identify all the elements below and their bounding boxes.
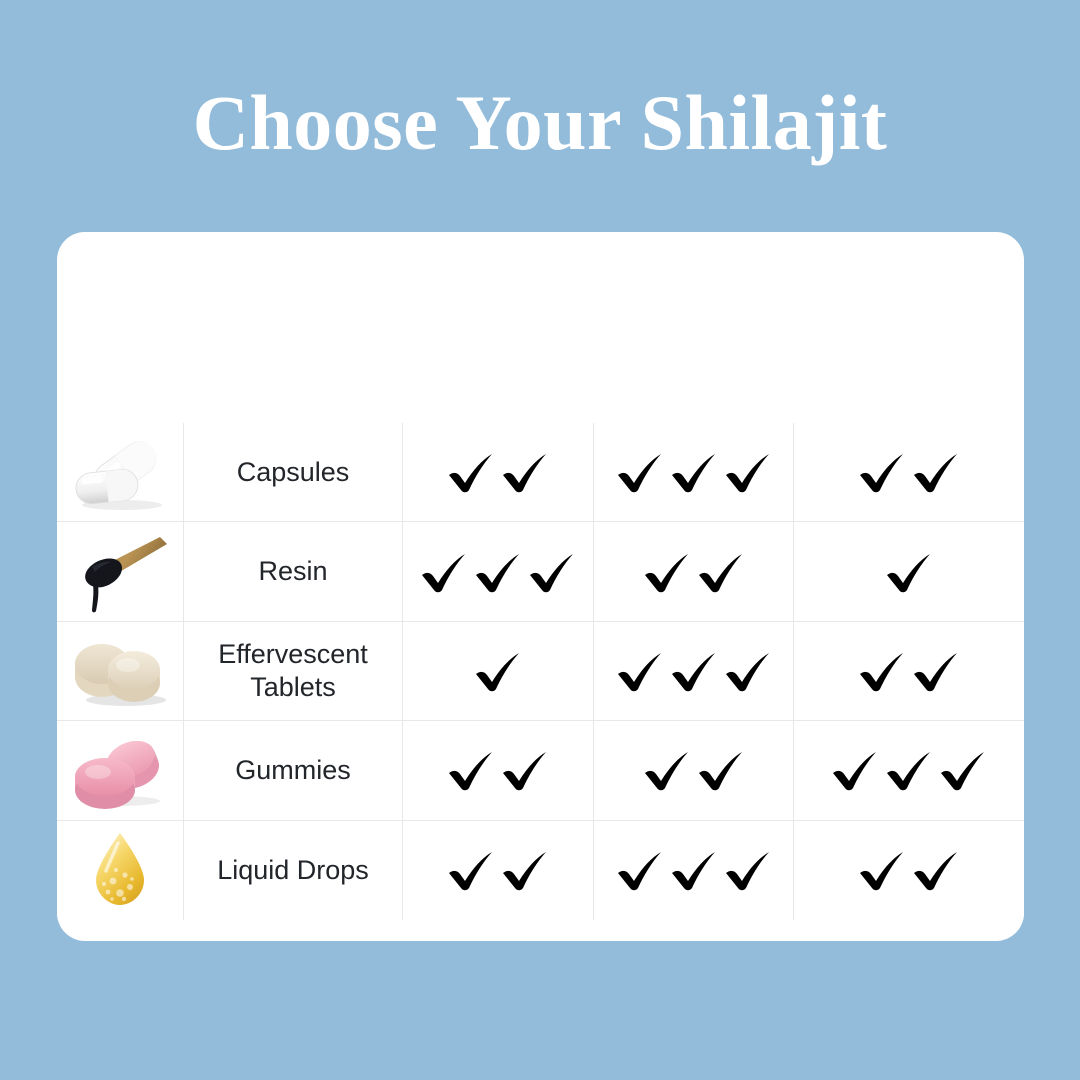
checkmark-icon xyxy=(642,550,692,594)
potency-cell xyxy=(403,622,594,721)
row-label: Effervescent Tablets xyxy=(184,622,403,721)
checkmark-icon xyxy=(911,848,961,892)
row-icon-cell xyxy=(57,423,184,522)
checkmark-icon xyxy=(615,848,665,892)
form-factors-header-label: Shilajit Form Factors xyxy=(206,294,381,362)
icon-column-header xyxy=(57,232,184,423)
absorption-header: Absorption xyxy=(594,232,794,423)
checkmark-icon xyxy=(911,649,961,693)
checkmark-icon xyxy=(938,748,988,792)
checkmark-icon xyxy=(446,748,496,792)
checkmark-icon xyxy=(527,550,577,594)
checkmark-icon xyxy=(884,748,934,792)
row-label: Gummies xyxy=(184,721,403,820)
absorption-cell xyxy=(594,721,794,820)
checkmark-icon xyxy=(642,748,692,792)
convenience-rating xyxy=(857,450,961,494)
potency-rating xyxy=(446,748,550,792)
checkmark-icon xyxy=(669,848,719,892)
checkmark-icon xyxy=(857,649,907,693)
infographic-page: Choose Your Shilajit Shilajit Form Facto… xyxy=(0,0,1080,1080)
potency-header: Potency xyxy=(403,232,594,423)
absorption-header-label: Absorption xyxy=(621,311,767,345)
checkmark-icon xyxy=(500,748,550,792)
potency-rating xyxy=(446,450,550,494)
convenience-cell xyxy=(794,622,1024,721)
convenience-cell xyxy=(794,423,1024,522)
checkmark-icon xyxy=(446,848,496,892)
checkmark-icon xyxy=(500,450,550,494)
absorption-rating xyxy=(615,848,773,892)
convenience-cell xyxy=(794,821,1024,920)
convenience-rating xyxy=(857,649,961,693)
checkmark-icon xyxy=(615,450,665,494)
row-label: Resin xyxy=(184,522,403,621)
absorption-cell xyxy=(594,423,794,522)
checkmark-icon xyxy=(473,649,523,693)
row-label: Capsules xyxy=(184,423,403,522)
checkmark-icon xyxy=(419,550,469,594)
capsules-icon xyxy=(68,431,172,513)
liquid-drops-icon xyxy=(68,829,172,911)
potency-rating xyxy=(419,550,577,594)
potency-rating xyxy=(473,649,523,693)
checkmark-icon xyxy=(473,550,523,594)
convenience-header: Convenience xyxy=(794,232,1024,423)
convenience-rating xyxy=(857,848,961,892)
convenience-rating xyxy=(884,550,934,594)
comparison-table: Shilajit Form Factors Potency Absorption… xyxy=(57,232,1024,941)
convenience-header-label: Convenience xyxy=(824,311,994,345)
convenience-cell xyxy=(794,721,1024,820)
checkmark-icon xyxy=(500,848,550,892)
checkmark-icon xyxy=(669,450,719,494)
convenience-cell xyxy=(794,522,1024,621)
row-label: Liquid Drops xyxy=(184,821,403,920)
checkmark-icon xyxy=(723,649,773,693)
page-title: Choose Your Shilajit xyxy=(0,84,1080,162)
potency-rating xyxy=(446,848,550,892)
row-icon-cell xyxy=(57,821,184,920)
checkmark-icon xyxy=(696,748,746,792)
absorption-rating xyxy=(642,550,746,594)
row-icon-cell xyxy=(57,522,184,621)
checkmark-icon xyxy=(911,450,961,494)
checkmark-icon xyxy=(723,848,773,892)
checkmark-icon xyxy=(830,748,880,792)
row-icon-cell xyxy=(57,721,184,820)
absorption-rating xyxy=(615,649,773,693)
row-icon-cell xyxy=(57,622,184,721)
checkmark-icon xyxy=(696,550,746,594)
checkmark-icon xyxy=(723,450,773,494)
absorption-cell xyxy=(594,622,794,721)
gummies-icon xyxy=(68,729,172,811)
checkmark-icon xyxy=(669,649,719,693)
effervescent-tablets-icon xyxy=(68,630,172,712)
checkmark-icon xyxy=(857,450,907,494)
absorption-cell xyxy=(594,821,794,920)
resin-spatula-icon xyxy=(68,531,172,613)
potency-cell xyxy=(403,522,594,621)
potency-header-label: Potency xyxy=(445,311,551,345)
comparison-table-card: Shilajit Form Factors Potency Absorption… xyxy=(57,232,1024,941)
convenience-rating xyxy=(830,748,988,792)
potency-cell xyxy=(403,423,594,522)
checkmark-icon xyxy=(615,649,665,693)
absorption-cell xyxy=(594,522,794,621)
absorption-rating xyxy=(642,748,746,792)
potency-cell xyxy=(403,721,594,820)
absorption-rating xyxy=(615,450,773,494)
checkmark-icon xyxy=(446,450,496,494)
potency-cell xyxy=(403,821,594,920)
checkmark-icon xyxy=(857,848,907,892)
checkmark-icon xyxy=(884,550,934,594)
form-factors-header: Shilajit Form Factors xyxy=(184,232,403,423)
